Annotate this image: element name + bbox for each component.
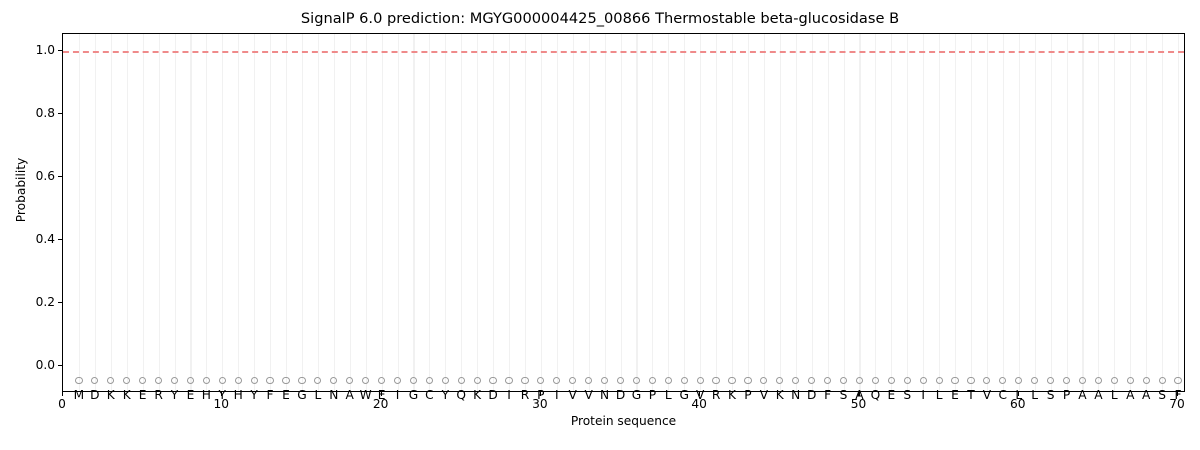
residue-marker	[872, 377, 879, 384]
x-axis-tick	[221, 392, 222, 396]
residue-marker	[936, 377, 943, 384]
y-axis-tick-label: 0.0	[36, 358, 55, 372]
residue-letter: S	[1047, 389, 1055, 401]
residue-marker	[649, 377, 656, 384]
residue-letter: D	[616, 389, 625, 401]
y-axis-tick	[58, 113, 62, 114]
residue-letter: D	[488, 389, 497, 401]
residue-marker	[187, 377, 194, 384]
residue-letter: L	[1111, 389, 1118, 401]
y-axis-tick-label: 1.0	[36, 43, 55, 57]
residue-letter: S	[903, 389, 911, 401]
residue-letter: I	[396, 389, 400, 401]
residue-letter: P	[1063, 389, 1070, 401]
residue-letter: H	[234, 389, 243, 401]
y-axis-tick-label: 0.4	[36, 232, 55, 246]
residue-letter: G	[632, 389, 641, 401]
residue-letter: A	[1094, 389, 1102, 401]
residue-marker	[553, 377, 560, 384]
residue-marker	[951, 377, 958, 384]
residue-marker	[840, 377, 847, 384]
residue-letter: A	[346, 389, 354, 401]
residue-marker	[1063, 377, 1070, 384]
residue-letter: D	[807, 389, 816, 401]
residue-letter: Q	[456, 389, 466, 401]
residue-letter: R	[712, 389, 720, 401]
residue-letter: I	[555, 389, 559, 401]
residue-letter: E	[887, 389, 895, 401]
residue-marker	[521, 377, 528, 384]
residue-marker	[330, 377, 337, 384]
residue-letter: G	[679, 389, 688, 401]
y-axis-tick	[58, 50, 62, 51]
residue-letter: G	[297, 389, 306, 401]
residue-letter: N	[791, 389, 800, 401]
residue-letter: P	[744, 389, 751, 401]
y-axis-tick	[58, 365, 62, 366]
residue-letter: V	[760, 389, 768, 401]
residue-letter: K	[107, 389, 115, 401]
residue-marker	[744, 377, 751, 384]
residue-marker	[1127, 377, 1134, 384]
residue-marker	[633, 377, 640, 384]
x-axis-tick-label: 60	[1010, 397, 1026, 411]
residue-letter: S	[1158, 389, 1166, 401]
residue-letter: D	[90, 389, 99, 401]
residue-letter: W	[360, 389, 372, 401]
residue-marker	[585, 377, 592, 384]
residue-marker	[123, 377, 130, 384]
y-axis-tick-label: 0.2	[36, 295, 55, 309]
y-axis-tick	[58, 176, 62, 177]
residue-marker	[171, 377, 178, 384]
residue-marker	[489, 377, 496, 384]
residue-letter: N	[600, 389, 609, 401]
residue-letter: C	[425, 389, 434, 401]
residue-letter: R	[154, 389, 162, 401]
x-axis-label: Protein sequence	[62, 414, 1185, 428]
residue-letter: A	[1078, 389, 1086, 401]
residue-marker	[760, 377, 767, 384]
residue-marker	[537, 377, 544, 384]
residue-marker	[1015, 377, 1022, 384]
residue-marker	[569, 377, 576, 384]
residue-marker	[1047, 377, 1054, 384]
residue-letter: Q	[871, 389, 881, 401]
residue-marker	[75, 377, 82, 384]
residue-marker	[1143, 377, 1150, 384]
sequence-markers-layer: MDKKERYEHYHYFEGLNAWEIGCYQKDIRPIVVNDGPLGV…	[63, 34, 1184, 391]
residue-letter: S	[840, 389, 848, 401]
residue-letter: P	[649, 389, 656, 401]
x-axis-tick-label: 50	[851, 397, 867, 411]
residue-marker	[920, 377, 927, 384]
residue-marker	[91, 377, 98, 384]
x-axis-tick	[1177, 392, 1178, 396]
residue-letter: K	[123, 389, 131, 401]
residue-letter: N	[329, 389, 338, 401]
residue-letter: Y	[171, 389, 178, 401]
residue-marker	[983, 377, 990, 384]
residue-letter: I	[921, 389, 925, 401]
residue-marker	[824, 377, 831, 384]
residue-letter: K	[776, 389, 784, 401]
residue-letter: K	[473, 389, 481, 401]
x-axis-tick-label: 0	[58, 397, 66, 411]
residue-marker	[665, 377, 672, 384]
residue-letter: T	[967, 389, 974, 401]
residue-letter: E	[187, 389, 195, 401]
residue-marker	[378, 377, 385, 384]
x-axis-tick-label: 20	[373, 397, 389, 411]
residue-marker	[776, 377, 783, 384]
residue-marker	[298, 377, 305, 384]
x-axis-tick-label: 40	[691, 397, 707, 411]
residue-marker	[458, 377, 465, 384]
residue-marker	[346, 377, 353, 384]
x-axis-tick	[540, 392, 541, 396]
residue-letter: E	[951, 389, 959, 401]
residue-marker	[235, 377, 242, 384]
residue-marker	[617, 377, 624, 384]
x-axis-tick-label: 10	[214, 397, 230, 411]
residue-letter: L	[314, 389, 321, 401]
residue-marker	[697, 377, 704, 384]
y-axis-label: Probability	[14, 90, 28, 290]
residue-letter: E	[282, 389, 290, 401]
residue-marker	[442, 377, 449, 384]
residue-letter: L	[936, 389, 943, 401]
residue-marker	[107, 377, 114, 384]
residue-marker	[808, 377, 815, 384]
residue-marker	[1111, 377, 1118, 384]
residue-letter: Y	[442, 389, 449, 401]
residue-marker	[251, 377, 258, 384]
residue-marker	[426, 377, 433, 384]
x-axis-tick-label: 70	[1169, 397, 1185, 411]
residue-letter: A	[1142, 389, 1150, 401]
plot-area: MDKKERYEHYHYFEGLNAWEIGCYQKDIRPIVVNDGPLGV…	[62, 33, 1185, 392]
residue-marker	[1095, 377, 1102, 384]
residue-marker	[601, 377, 608, 384]
residue-marker	[410, 377, 417, 384]
y-axis-tick-label: 0.8	[36, 106, 55, 120]
residue-marker	[904, 377, 911, 384]
residue-marker	[155, 377, 162, 384]
residue-marker	[505, 377, 512, 384]
residue-letter: A	[1126, 389, 1134, 401]
chart-title: SignalP 6.0 prediction: MGYG000004425_00…	[0, 10, 1200, 27]
residue-marker	[967, 377, 974, 384]
residue-letter: H	[202, 389, 211, 401]
residue-marker	[1159, 377, 1166, 384]
residue-letter: K	[728, 389, 736, 401]
residue-letter: I	[507, 389, 511, 401]
residue-marker	[1079, 377, 1086, 384]
y-axis-tick	[58, 239, 62, 240]
residue-marker	[394, 377, 401, 384]
residue-letter: F	[267, 389, 274, 401]
residue-marker	[856, 377, 863, 384]
residue-marker	[139, 377, 146, 384]
residue-marker	[728, 377, 735, 384]
residue-letter: V	[584, 389, 592, 401]
x-axis-tick	[1018, 392, 1019, 396]
residue-letter: Y	[250, 389, 257, 401]
signalp-prediction-figure: SignalP 6.0 prediction: MGYG000004425_00…	[0, 0, 1200, 450]
x-axis-tick	[62, 392, 63, 396]
residue-letter: R	[521, 389, 529, 401]
residue-marker	[219, 377, 226, 384]
y-axis-tick	[58, 302, 62, 303]
residue-letter: G	[409, 389, 418, 401]
residue-marker	[712, 377, 719, 384]
residue-marker	[1031, 377, 1038, 384]
residue-marker	[362, 377, 369, 384]
residue-marker	[474, 377, 481, 384]
x-axis-tick	[858, 392, 859, 396]
residue-letter: C	[999, 389, 1008, 401]
residue-marker	[999, 377, 1006, 384]
residue-letter: L	[665, 389, 672, 401]
residue-marker	[266, 377, 273, 384]
x-axis-tick	[381, 392, 382, 396]
residue-marker	[792, 377, 799, 384]
residue-letter: V	[569, 389, 577, 401]
x-axis-tick	[699, 392, 700, 396]
residue-letter: M	[74, 389, 85, 401]
residue-letter: L	[1031, 389, 1038, 401]
residue-letter: F	[824, 389, 831, 401]
residue-marker	[314, 377, 321, 384]
y-axis-tick-label: 0.6	[36, 169, 55, 183]
x-axis-tick-label: 30	[532, 397, 548, 411]
residue-letter: V	[983, 389, 991, 401]
residue-marker	[888, 377, 895, 384]
residue-marker	[681, 377, 688, 384]
residue-marker	[282, 377, 289, 384]
residue-marker	[1174, 377, 1181, 384]
residue-marker	[203, 377, 210, 384]
residue-letter: E	[139, 389, 147, 401]
